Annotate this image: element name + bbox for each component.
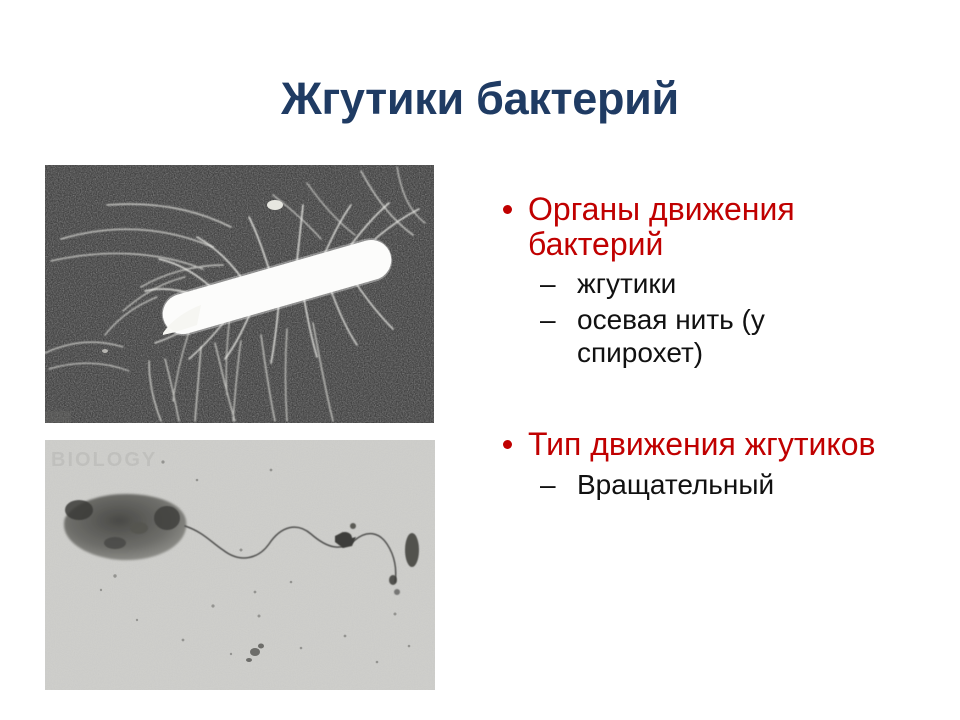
bullet-content: Органы движения бактерий – жгутики – осе… [492, 192, 892, 504]
sub-bullet-label: жгутики [577, 267, 892, 300]
bullet-heading-1-label: Органы движения бактерий [528, 192, 892, 261]
sub-bullet-item: – осевая нить (у спирохет) [492, 303, 892, 369]
bullet-heading-2-label: Тип движения жгутиков [528, 427, 892, 462]
figure-electron-micrograph-peritrichous [45, 165, 434, 423]
dash-icon: – [540, 267, 556, 300]
electron-micrograph-illustration [45, 165, 434, 423]
sub-bullet-list-2: – Вращательный [492, 468, 892, 501]
slide-canvas: Жгутики бактерий [0, 0, 960, 720]
bullet-heading-2: Тип движения жгутиков [492, 427, 892, 462]
page-title: Жгутики бактерий [60, 74, 900, 124]
bullet-dot-icon [503, 440, 512, 449]
bullet-heading-1: Органы движения бактерий [492, 192, 892, 261]
bullet-group-1: Органы движения бактерий – жгутики – осе… [492, 192, 892, 369]
sub-bullet-item: – Вращательный [492, 468, 892, 501]
sub-bullet-item: – жгутики [492, 267, 892, 300]
figure-light-micrograph-monotrichous: BIOLOGY [45, 440, 435, 690]
svg-text:BIOLOGY: BIOLOGY [51, 449, 157, 471]
bullet-dot-icon [503, 205, 512, 214]
sub-bullet-label: осевая нить (у спирохет) [577, 303, 892, 369]
dash-icon: – [540, 303, 556, 336]
light-micrograph-illustration: BIOLOGY [45, 440, 435, 690]
sub-bullet-label: Вращательный [577, 468, 892, 501]
bullet-group-2: Тип движения жгутиков – Вращательный [492, 427, 892, 501]
sub-bullet-list-1: – жгутики – осевая нить (у спирохет) [492, 267, 892, 369]
dash-icon: – [540, 468, 556, 501]
